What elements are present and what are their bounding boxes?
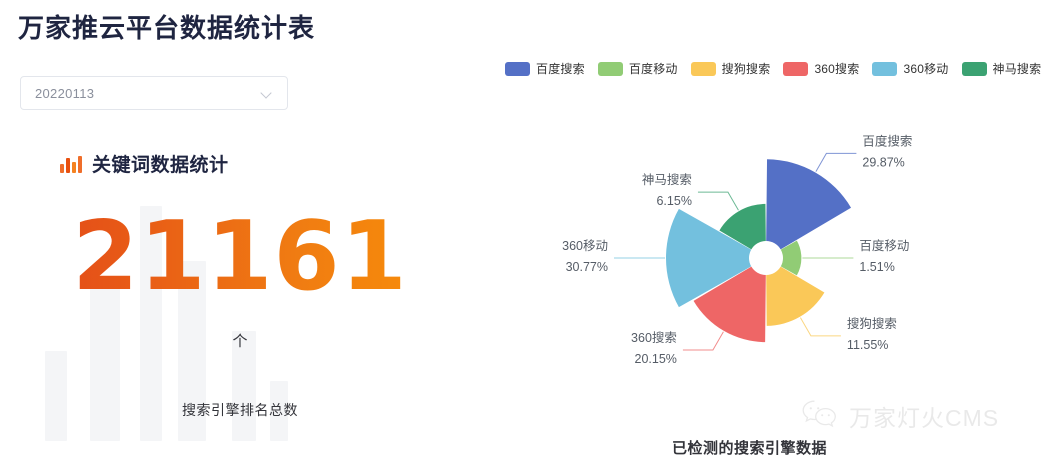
- legend-item[interactable]: 百度搜索: [505, 60, 585, 77]
- watermark-text: 万家灯火CMS: [849, 399, 999, 433]
- legend-label: 搜狗搜索: [722, 60, 771, 77]
- rose-slice-value: 1.51%: [859, 260, 894, 274]
- bar-chart-icon: [60, 155, 82, 173]
- rose-slice-name: 百度移动: [859, 238, 909, 253]
- legend-item[interactable]: 搜狗搜索: [691, 60, 771, 77]
- rose-label-leader-line: [800, 318, 841, 336]
- rose-slice-name: 搜狗搜索: [847, 316, 897, 331]
- legend-swatch-icon: [505, 62, 530, 76]
- rose-slice-value: 20.15%: [635, 352, 677, 366]
- kpi-background-bar: [45, 351, 67, 441]
- kpi-header: 关键词数据统计: [60, 150, 229, 177]
- legend-item[interactable]: 神马搜索: [962, 60, 1042, 77]
- search-engine-rose-chart: 百度搜索29.87%百度移动1.51%搜狗搜索11.55%360搜索20.15%…: [480, 100, 1051, 400]
- legend-item[interactable]: 360移动: [872, 60, 948, 77]
- rose-slice-name: 360搜索: [631, 330, 677, 345]
- watermark: 万家灯火CMS: [800, 398, 999, 433]
- date-select-value: 20220113: [35, 86, 261, 101]
- legend-item[interactable]: 360搜索: [783, 60, 859, 77]
- legend-item[interactable]: 百度移动: [598, 60, 678, 77]
- legend-swatch-icon: [872, 62, 897, 76]
- rose-slice[interactable]: [766, 267, 824, 326]
- legend-swatch-icon: [783, 62, 808, 76]
- rose-slice-value: 6.15%: [656, 194, 691, 208]
- legend-label: 百度移动: [629, 60, 678, 77]
- keyword-stats-panel: 关键词数据统计 21161 个 搜索引擎排名总数: [0, 130, 480, 471]
- rose-chart-svg: 百度搜索29.87%百度移动1.51%搜狗搜索11.55%360搜索20.15%…: [480, 100, 1051, 400]
- chevron-down-icon: [261, 87, 273, 99]
- kpi-title: 关键词数据统计: [92, 150, 229, 177]
- chart-caption: 已检测的搜索引擎数据: [672, 437, 827, 458]
- rose-slice-name: 360移动: [562, 239, 608, 253]
- legend-swatch-icon: [691, 62, 716, 76]
- legend-swatch-icon: [598, 62, 623, 76]
- rose-slice-value: 30.77%: [566, 260, 608, 274]
- rose-slice-value: 11.55%: [847, 338, 888, 352]
- rose-slice-value: 29.87%: [862, 155, 904, 169]
- rose-slice[interactable]: [766, 159, 851, 249]
- legend-swatch-icon: [962, 62, 987, 76]
- chart-legend: 百度搜索百度移动搜狗搜索360搜索360移动神马搜索: [505, 60, 1051, 77]
- rose-slice-name: 神马搜索: [642, 172, 692, 187]
- rose-label-leader-line: [698, 192, 739, 210]
- legend-label: 360搜索: [814, 60, 859, 77]
- legend-label: 百度搜索: [536, 60, 585, 77]
- date-select[interactable]: 20220113: [20, 76, 288, 110]
- legend-label: 神马搜索: [993, 60, 1042, 77]
- rose-slice-name: 百度搜索: [862, 133, 912, 148]
- kpi-value: 21161: [0, 210, 480, 305]
- kpi-caption: 搜索引擎排名总数: [0, 400, 480, 420]
- rose-label-leader-line: [683, 332, 724, 350]
- legend-label: 360移动: [903, 60, 948, 77]
- rose-label-leader-line: [816, 153, 857, 171]
- dashboard-page: 万家推云平台数据统计表 20220113 关键词数据统计 21161 个 搜索引…: [0, 0, 1051, 471]
- page-title: 万家推云平台数据统计表: [18, 8, 315, 45]
- wechat-icon: [800, 398, 840, 433]
- kpi-unit: 个: [0, 330, 480, 351]
